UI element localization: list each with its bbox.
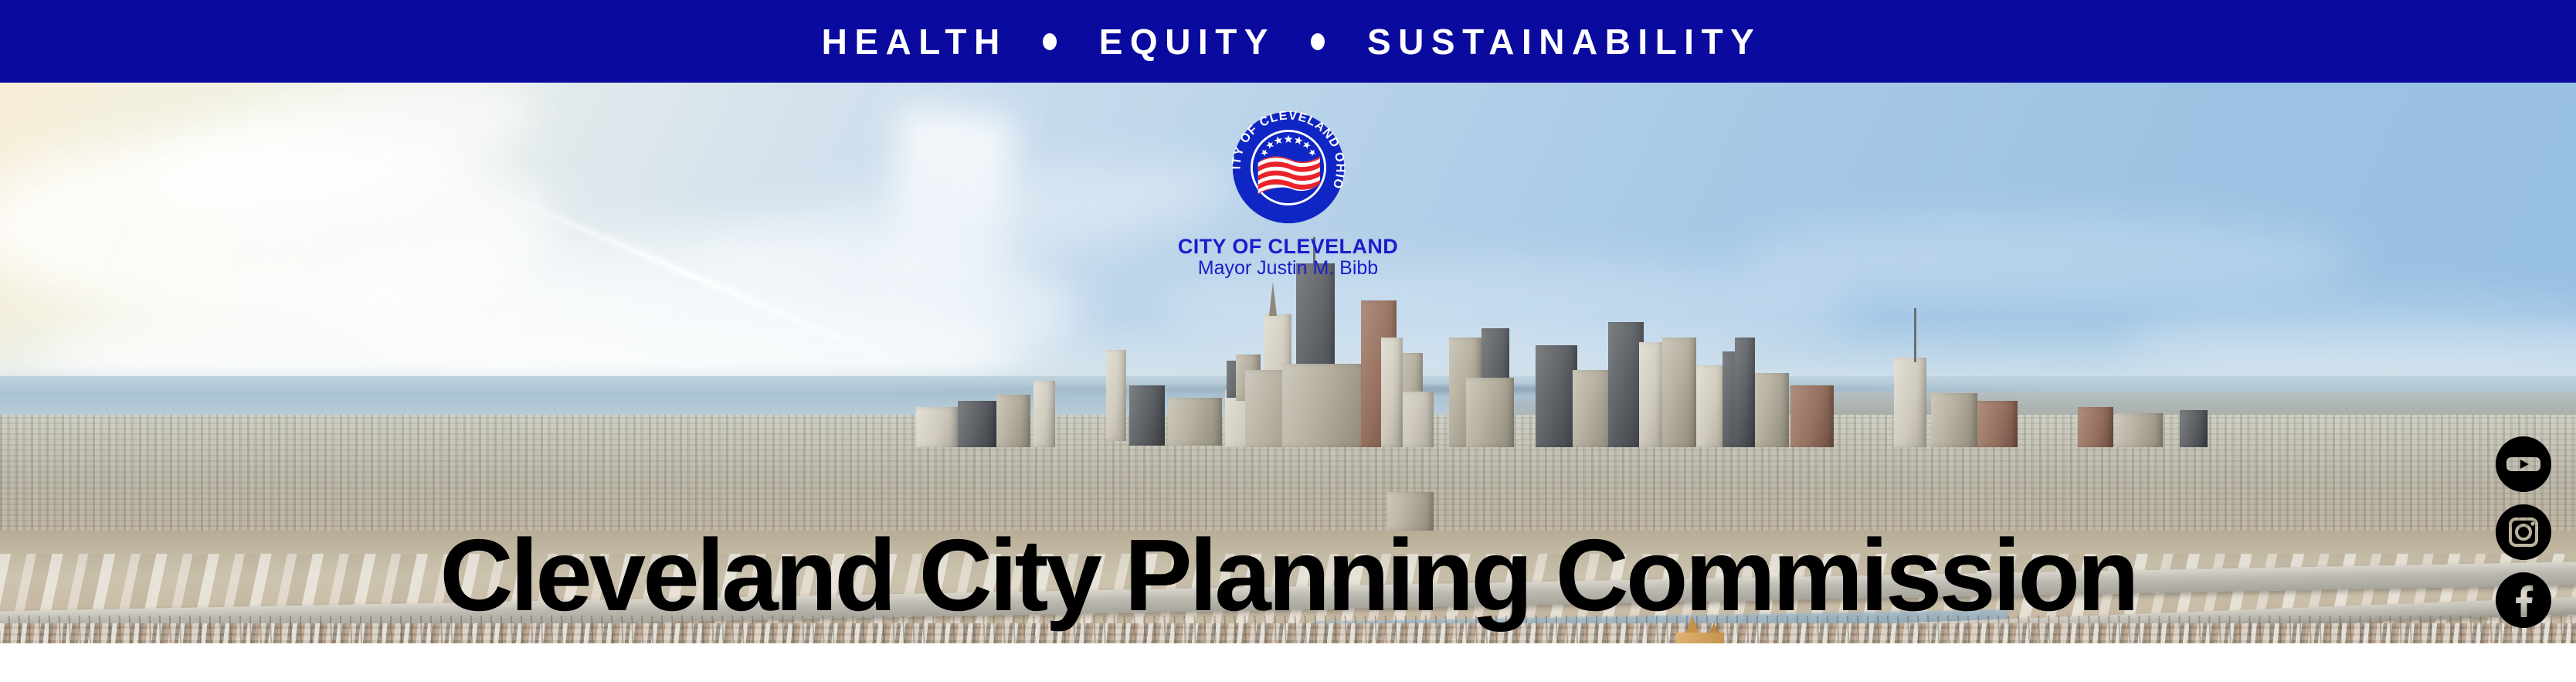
social-link-facebook[interactable] bbox=[2496, 572, 2551, 628]
tagline-item-sustainability: SUSTAINABILITY bbox=[1359, 24, 1763, 59]
building bbox=[1977, 401, 2018, 447]
city-of-cleveland-seal-icon: CITY OF CLEVELAND OHIO bbox=[1225, 104, 1352, 231]
church-building bbox=[1676, 633, 1724, 643]
page-root: HEALTH EQUITY SUSTAINABILITY bbox=[0, 0, 2576, 682]
facebook-icon bbox=[2496, 572, 2551, 628]
building bbox=[996, 395, 1030, 447]
building bbox=[1536, 345, 1577, 447]
bullet-dot-icon bbox=[1311, 33, 1325, 50]
bottom-white-strip bbox=[0, 643, 2576, 682]
city-logo-block[interactable]: CITY OF CLEVELAND OHIO bbox=[1126, 104, 1451, 280]
building bbox=[1662, 338, 1696, 447]
building bbox=[1750, 373, 1789, 447]
logo-title: CITY OF CLEVELAND bbox=[1126, 236, 1451, 257]
building bbox=[1931, 393, 1977, 447]
logo-subtitle: Mayor Justin M. Bibb bbox=[1126, 258, 1451, 280]
tagline-banner: HEALTH EQUITY SUSTAINABILITY bbox=[0, 0, 2576, 83]
building bbox=[2116, 413, 2163, 447]
bullet-dot-icon bbox=[1043, 33, 1057, 50]
building bbox=[2180, 410, 2208, 447]
building bbox=[1129, 385, 1165, 446]
building bbox=[1168, 398, 1222, 446]
building bbox=[1106, 350, 1126, 441]
tagline-item-health: HEALTH bbox=[813, 24, 1009, 59]
building bbox=[1466, 378, 1514, 447]
building bbox=[1696, 365, 1726, 447]
building bbox=[1573, 370, 1613, 447]
social-link-youtube[interactable] bbox=[2496, 436, 2551, 492]
building bbox=[1639, 342, 1664, 447]
building bbox=[1033, 381, 1055, 447]
youtube-icon bbox=[2496, 436, 2551, 492]
hero-photo: CITY OF CLEVELAND OHIO bbox=[0, 83, 2576, 643]
building bbox=[1282, 364, 1367, 447]
social-links bbox=[2494, 436, 2553, 628]
building bbox=[958, 401, 996, 447]
page-title: Cleveland City Planning Commission bbox=[0, 524, 2576, 626]
instagram-icon bbox=[2496, 504, 2551, 560]
building bbox=[2078, 407, 2113, 447]
building bbox=[1790, 385, 1834, 447]
social-link-instagram[interactable] bbox=[2496, 504, 2551, 560]
terminal-tower-spire bbox=[1269, 282, 1277, 316]
building bbox=[916, 407, 958, 447]
tagline-banner-inner: HEALTH EQUITY SUSTAINABILITY bbox=[813, 24, 1763, 59]
antenna bbox=[1914, 308, 1916, 362]
tagline-item-equity: EQUITY bbox=[1091, 24, 1277, 59]
building bbox=[1894, 358, 1926, 447]
building bbox=[1735, 338, 1755, 447]
building bbox=[1381, 338, 1403, 447]
